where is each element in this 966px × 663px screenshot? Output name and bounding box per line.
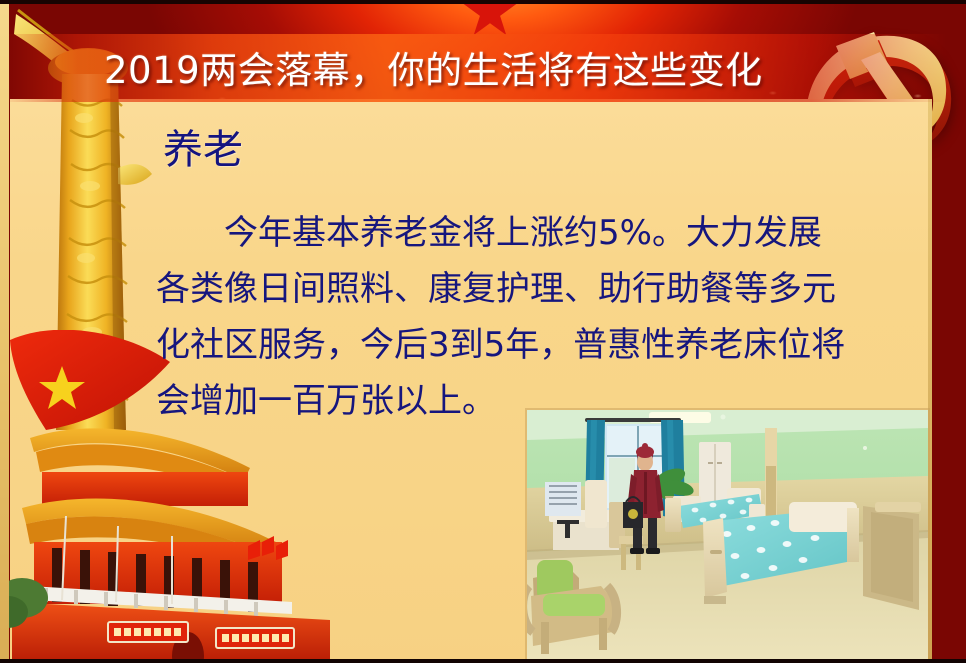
body-line: 今年基本养老金将上涨约5%。大力发展 xyxy=(156,205,916,261)
nursing-home-photo xyxy=(527,410,928,659)
slide-canvas: 2019两会落幕，你的生活将有这些变化 养老 今年基本养老金将上涨约5%。大力发… xyxy=(0,0,966,663)
body-line: 化社区服务，今后3到5年，普惠性养老床位将 xyxy=(156,317,916,373)
body-line: 各类像日间照料、康复护理、助行助餐等多元 xyxy=(156,261,916,317)
panel-right-edge xyxy=(928,99,932,663)
left-border-strip xyxy=(0,0,9,663)
bottom-border-strip xyxy=(0,659,966,663)
section-heading: 养老 xyxy=(163,124,243,176)
page-title: 2019两会落幕，你的生活将有这些变化 xyxy=(104,46,804,96)
body-paragraph: 今年基本养老金将上涨约5%。大力发展 各类像日间照料、康复护理、助行助餐等多元 … xyxy=(156,205,916,429)
top-border-strip xyxy=(0,0,966,4)
